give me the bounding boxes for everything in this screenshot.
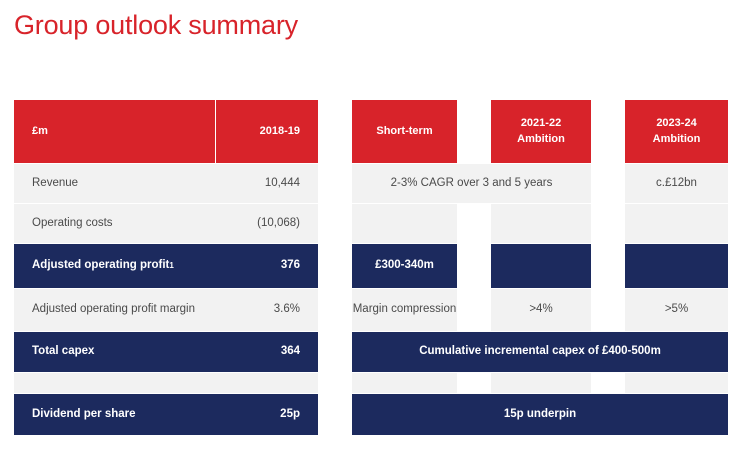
- outlook-operating-costs-2021: [491, 204, 591, 243]
- table-row-adjusted-operating-profit-label: Adjusted operating profit1: [14, 244, 215, 288]
- outlook-header-2021-22-line2: Ambition: [517, 133, 565, 146]
- table-row-total-capex-label: Total capex: [14, 332, 215, 372]
- table-row-margin-value: 3.6%: [215, 289, 318, 331]
- outlook-spacer-2023: [625, 373, 728, 393]
- outlook-spacer-2021: [491, 373, 591, 393]
- outlook-operating-costs-2023: [625, 204, 728, 243]
- outlook-header-2023-24-line2: Ambition: [653, 133, 701, 146]
- outlook-header-short-term-line1: Short-term: [376, 125, 432, 138]
- adjusted-operating-profit-text: Adjusted operating profit: [32, 259, 169, 272]
- table-row-total-capex-value: 364: [215, 332, 318, 372]
- outlook-margin-2021: >4%: [491, 289, 591, 331]
- table-row-dividend-per-share-label: Dividend per share: [14, 394, 215, 435]
- outlook-header-2023-24-line1: 2023-24: [656, 117, 696, 130]
- outlook-operating-costs-short: [352, 204, 457, 243]
- outlook-header-2021-22-line1: 2021-22: [521, 117, 561, 130]
- table-row-revenue-value: 10,444: [215, 164, 318, 203]
- left-table-spacer-row: [14, 373, 318, 393]
- page-title: Group outlook summary: [14, 10, 298, 41]
- outlook-revenue-span-short-2021: 2-3% CAGR over 3 and 5 years: [352, 164, 591, 203]
- left-table-header-divider: [215, 100, 216, 163]
- table-row-margin-label: Adjusted operating profit margin: [14, 289, 215, 331]
- table-row-operating-costs-label: Operating costs: [14, 204, 215, 243]
- outlook-adjusted-operating-profit-2021: [491, 244, 591, 288]
- outlook-dividend-bar: 15p underpin: [352, 394, 728, 435]
- outlook-header-2021-22: 2021-22 Ambition: [491, 100, 591, 163]
- outlook-revenue-2023: c.£12bn: [625, 164, 728, 203]
- outlook-adjusted-operating-profit-short: £300-340m: [352, 244, 457, 288]
- outlook-margin-2023: >5%: [625, 289, 728, 331]
- outlook-adjusted-operating-profit-2023: [625, 244, 728, 288]
- table-row-dividend-per-share-value: 25p: [215, 394, 318, 435]
- outlook-header-2023-24: 2023-24 Ambition: [625, 100, 728, 163]
- outlook-capex-bar: Cumulative incremental capex of £400-500…: [352, 332, 728, 372]
- outlook-spacer-short: [352, 373, 457, 393]
- left-table-header-unit: £m: [14, 100, 215, 163]
- left-table-header-period: 2018-19: [216, 100, 318, 163]
- outlook-margin-short: Margin compression: [352, 289, 457, 331]
- table-row-adjusted-operating-profit-value: 376: [215, 244, 318, 288]
- outlook-header-short-term: Short-term: [352, 100, 457, 163]
- table-row-operating-costs-value: (10,068): [215, 204, 318, 243]
- table-row-revenue-label: Revenue: [14, 164, 215, 203]
